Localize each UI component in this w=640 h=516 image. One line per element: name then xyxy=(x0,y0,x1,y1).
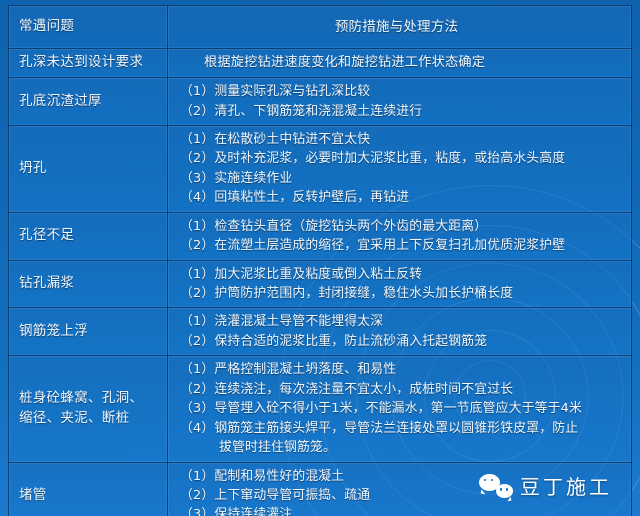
table-container: 常遇问题 预防措施与处理方法 孔深未达到设计要求 根据旋挖钻进速度变化和旋挖钻进… xyxy=(8,5,632,516)
measure-cell: （1）严格控制混凝土坍落度、和易性 （2）连续浇注，每次浇注量不宜太小，成桩时间… xyxy=(168,356,632,462)
issue-cell: 桩身砼蜂窝、孔洞、 缩径、夹泥、断桩 xyxy=(9,356,168,462)
measure-item: （3）导管埋入砼不得小于1米，不能漏水，第一节底管应大于等于4米 xyxy=(180,399,625,418)
problems-measures-table: 常遇问题 预防措施与处理方法 孔深未达到设计要求 根据旋挖钻进速度变化和旋挖钻进… xyxy=(8,5,632,516)
table-row: 孔径不足 （1）检查钻头直径（旋挖钻头两个外齿的最大距离） （2）在流塑土层造成… xyxy=(9,212,632,260)
measure-item: （1）在松散砂土中钻进不宜太快 xyxy=(180,130,625,149)
table-row: 坍孔 （1）在松散砂土中钻进不宜太快 （2）及时补充泥浆，必要时加大泥浆比重，粘… xyxy=(9,125,632,212)
measure-item: （2）在流塑土层造成的缩径，宜采用上下反复扫孔加优质泥浆护壁 xyxy=(180,236,625,255)
measure-cell: （1）加大泥浆比重及粘度或倒入粘土反转 （2）护筒防护范围内，封闭接缝，稳住水头… xyxy=(168,260,632,308)
measure-list: （1）加大泥浆比重及粘度或倒入粘土反转 （2）护筒防护范围内，封闭接缝，稳住水头… xyxy=(180,265,625,304)
measure-list: （1）严格控制混凝土坍落度、和易性 （2）连续浇注，每次浇注量不宜太小，成桩时间… xyxy=(180,360,625,457)
measure-item: （2）保持合适的泥浆比重，防止流砂涌入托起钢筋笼 xyxy=(180,332,625,351)
measure-item: （1）加大泥浆比重及粘度或倒入粘土反转 xyxy=(180,265,625,284)
issue-cell: 孔深未达到设计要求 xyxy=(9,49,168,78)
measure-item: （2）护筒防护范围内，封闭接缝，稳住水头加长护桶长度 xyxy=(180,284,625,303)
table-row: 孔底沉渣过厚 （1）测量实际孔深与钻孔深比较 （2）清孔、下钢筋笼和浇混凝土连续… xyxy=(9,78,632,126)
measure-list: （1）浇灌混凝土导管不能埋得太深 （2）保持合适的泥浆比重，防止流砂涌入托起钢筋… xyxy=(180,312,625,351)
table-row: 桩身砼蜂窝、孔洞、 缩径、夹泥、断桩 （1）严格控制混凝土坍落度、和易性 （2）… xyxy=(9,356,632,462)
measure-list: （1）配制和易性好的混凝土 （2）上下窜动导管可振捣、疏通 （3）保持连续灌注 xyxy=(180,467,625,516)
header-cell-issue: 常遇问题 xyxy=(9,6,168,49)
measure-list: （1）在松散砂土中钻进不宜太快 （2）及时补充泥浆，必要时加大泥浆比重，粘度，或… xyxy=(180,130,625,208)
measure-cell: （1）配制和易性好的混凝土 （2）上下窜动导管可振捣、疏通 （3）保持连续灌注 xyxy=(168,462,632,516)
measure-item: （4）回填粘性土，反转护壁后，再钻进 xyxy=(180,188,625,207)
issue-cell: 孔径不足 xyxy=(9,212,168,260)
measure-item: （2）连续浇注，每次浇注量不宜太小，成桩时间不宜过长 xyxy=(180,380,625,399)
measure-item: （4）钢筋笼主筋接头焊平，导管法兰连接处罩以圆锥形铁皮罩，防止 拔管时挂住钢筋笼… xyxy=(180,419,625,458)
table-row: 堵管 （1）配制和易性好的混凝土 （2）上下窜动导管可振捣、疏通 （3）保持连续… xyxy=(9,462,632,516)
table-header-row: 常遇问题 预防措施与处理方法 xyxy=(9,6,632,49)
table-row: 孔深未达到设计要求 根据旋挖钻进速度变化和旋挖钻进工作状态确定 xyxy=(9,49,632,78)
measure-item: （1）浇灌混凝土导管不能埋得太深 xyxy=(180,312,625,331)
issue-cell: 钻孔漏浆 xyxy=(9,260,168,308)
table-body: 常遇问题 预防措施与处理方法 孔深未达到设计要求 根据旋挖钻进速度变化和旋挖钻进… xyxy=(9,6,632,516)
measure-cell: （1）测量实际孔深与钻孔深比较 （2）清孔、下钢筋笼和浇混凝土连续进行 xyxy=(168,78,632,126)
measure-item: （1）配制和易性好的混凝土 xyxy=(180,467,625,486)
measure-list: （1）测量实际孔深与钻孔深比较 （2）清孔、下钢筋笼和浇混凝土连续进行 xyxy=(180,82,625,121)
table-row: 钢筋笼上浮 （1）浇灌混凝土导管不能埋得太深 （2）保持合适的泥浆比重，防止流砂… xyxy=(9,308,632,356)
screenshot-page: 常遇问题 预防措施与处理方法 孔深未达到设计要求 根据旋挖钻进速度变化和旋挖钻进… xyxy=(0,0,640,516)
measure-item: （1）严格控制混凝土坍落度、和易性 xyxy=(180,360,625,379)
measure-cell: （1）检查钻头直径（旋挖钻头两个外齿的最大距离） （2）在流塑土层造成的缩径，宜… xyxy=(168,212,632,260)
measure-cell: （1）浇灌混凝土导管不能埋得太深 （2）保持合适的泥浆比重，防止流砂涌入托起钢筋… xyxy=(168,308,632,356)
measure-item: （3）实施连续作业 xyxy=(180,169,625,188)
measure-cell: 根据旋挖钻进速度变化和旋挖钻进工作状态确定 xyxy=(168,49,632,78)
measure-item: （2）清孔、下钢筋笼和浇混凝土连续进行 xyxy=(180,102,625,121)
issue-cell: 钢筋笼上浮 xyxy=(9,308,168,356)
measure-item: （2）及时补充泥浆，必要时加大泥浆比重，粘度，或抬高水头高度 xyxy=(180,149,625,168)
issue-cell: 坍孔 xyxy=(9,125,168,212)
measure-item: （3）保持连续灌注 xyxy=(180,505,625,516)
measure-cell: （1）在松散砂土中钻进不宜太快 （2）及时补充泥浆，必要时加大泥浆比重，粘度，或… xyxy=(168,125,632,212)
measure-item: （1）检查钻头直径（旋挖钻头两个外齿的最大距离） xyxy=(180,217,625,236)
measure-list: （1）检查钻头直径（旋挖钻头两个外齿的最大距离） （2）在流塑土层造成的缩径，宜… xyxy=(180,217,625,256)
issue-cell: 孔底沉渣过厚 xyxy=(9,78,168,126)
measure-item: （1）测量实际孔深与钻孔深比较 xyxy=(180,82,625,101)
header-cell-measure: 预防措施与处理方法 xyxy=(168,6,632,49)
table-row: 钻孔漏浆 （1）加大泥浆比重及粘度或倒入粘土反转 （2）护筒防护范围内，封闭接缝… xyxy=(9,260,632,308)
issue-cell: 堵管 xyxy=(9,462,168,516)
measure-item: （2）上下窜动导管可振捣、疏通 xyxy=(180,486,625,505)
